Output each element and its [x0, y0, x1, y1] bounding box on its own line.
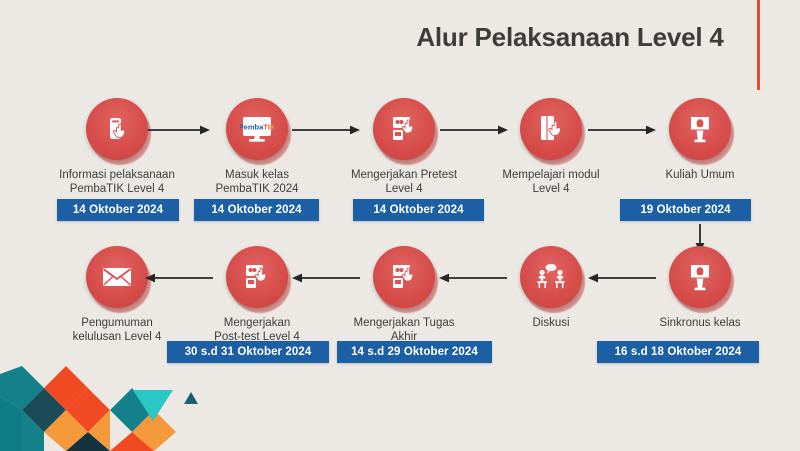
circle: [373, 246, 435, 308]
badge-sinkronus-kelas: 16 s.d 18 Oktober 2024: [597, 341, 759, 363]
slide-canvas: Alur Pelaksanaan Level 4 Informasi pelak…: [0, 0, 800, 451]
arrow-row2-1: [143, 272, 213, 284]
arrow-row1-2: [292, 124, 362, 136]
circle: [669, 246, 731, 308]
node-label: Sinkronus kelas: [625, 316, 775, 330]
node-label: Mengerjakan Post-test Level 4: [182, 316, 332, 344]
badge-kuliah-umum: 19 Oktober 2024: [620, 199, 751, 221]
flow-node-mempelajari-modul[interactable]: Mempelajari modul Level 4: [476, 98, 626, 196]
badge-mengerjakan-pretest: 14 Oktober 2024: [353, 199, 484, 221]
flow-node-diskusi[interactable]: Diskusi: [476, 246, 626, 330]
circle: [520, 98, 582, 160]
node-icon-circle: PembaTIK: [226, 98, 288, 160]
flow-node-kuliah-umum[interactable]: Kuliah Umum: [625, 98, 775, 182]
node-icon-circle: [86, 246, 148, 308]
title-accent-line: [757, 0, 760, 90]
flow-node-mengerjakan-tugas-akhir[interactable]: Mengerjakan Tugas Akhir: [329, 246, 479, 344]
arrow-row2-4: [586, 272, 656, 284]
flow-node-mengerjakan-post-test[interactable]: Mengerjakan Post-test Level 4: [182, 246, 332, 344]
arrow-row1-1: [148, 124, 212, 136]
circle: PembaTIK: [226, 98, 288, 160]
podium-speaker-icon: [685, 261, 715, 293]
circle: [373, 98, 435, 160]
node-label: Masuk kelas PembaTIK 2024: [182, 168, 332, 196]
monitor-pembatik-icon: PembaTIK: [240, 113, 274, 145]
node-label: Mempelajari modul Level 4: [476, 168, 626, 196]
discussion-people-icon: [534, 262, 568, 292]
node-icon-circle: [86, 98, 148, 160]
page-title: Alur Pelaksanaan Level 4: [400, 22, 740, 53]
circle: [520, 246, 582, 308]
flow-node-mengerjakan-pretest[interactable]: Mengerjakan Pretest Level 4: [329, 98, 479, 196]
node-icon-circle: [669, 246, 731, 308]
flow-node-masuk-kelas[interactable]: PembaTIK Masuk kelas PembaTIK 2024: [182, 98, 332, 196]
smartphone-test-icon: [388, 261, 420, 293]
svg-text:PembaTIK: PembaTIK: [240, 123, 274, 132]
document-hand-icon: [102, 114, 132, 144]
node-icon-circle: [669, 98, 731, 160]
arrow-row2-2: [290, 272, 360, 284]
decorative-triangle-mosaic: [0, 366, 240, 451]
node-icon-circle: [373, 246, 435, 308]
node-label: Pengumuman kelulusan Level 4: [42, 316, 192, 344]
node-label: Kuliah Umum: [625, 168, 775, 182]
smartphone-test-icon: [388, 113, 420, 145]
circle: [226, 246, 288, 308]
circle: [669, 98, 731, 160]
badge-mengerjakan-post-test: 30 s.d 31 Oktober 2024: [167, 341, 329, 363]
podium-speaker-icon: [685, 113, 715, 145]
arrow-row1-4: [588, 124, 658, 136]
badge-masuk-kelas: 14 Oktober 2024: [194, 199, 319, 221]
node-icon-circle: [373, 98, 435, 160]
arrow-row1-3: [440, 124, 510, 136]
node-label: Mengerjakan Tugas Akhir: [329, 316, 479, 344]
circle: [86, 246, 148, 308]
arrow-row2-3: [437, 272, 507, 284]
node-icon-circle: [520, 246, 582, 308]
flow-node-informasi-pelaksanaan[interactable]: Informasi pelaksanaan PembaTIK Level 4: [42, 98, 192, 196]
node-icon-circle: [520, 98, 582, 160]
circle: [86, 98, 148, 160]
node-label: Mengerjakan Pretest Level 4: [329, 168, 479, 196]
node-label: Diskusi: [476, 316, 626, 330]
smartphone-test-icon: [241, 261, 273, 293]
badge-mengerjakan-tugas-akhir: 14 s.d 29 Oktober 2024: [337, 341, 492, 363]
book-hand-icon: [535, 113, 567, 145]
node-icon-circle: [226, 246, 288, 308]
flow-node-sinkronus-kelas[interactable]: Sinkronus kelas: [625, 246, 775, 330]
flow-node-pengumuman-kelulusan[interactable]: Pengumuman kelulusan Level 4: [42, 246, 192, 344]
badge-informasi-pelaksanaan: 14 Oktober 2024: [57, 199, 179, 221]
envelope-icon: [100, 264, 134, 290]
node-label: Informasi pelaksanaan PembaTIK Level 4: [42, 168, 192, 196]
